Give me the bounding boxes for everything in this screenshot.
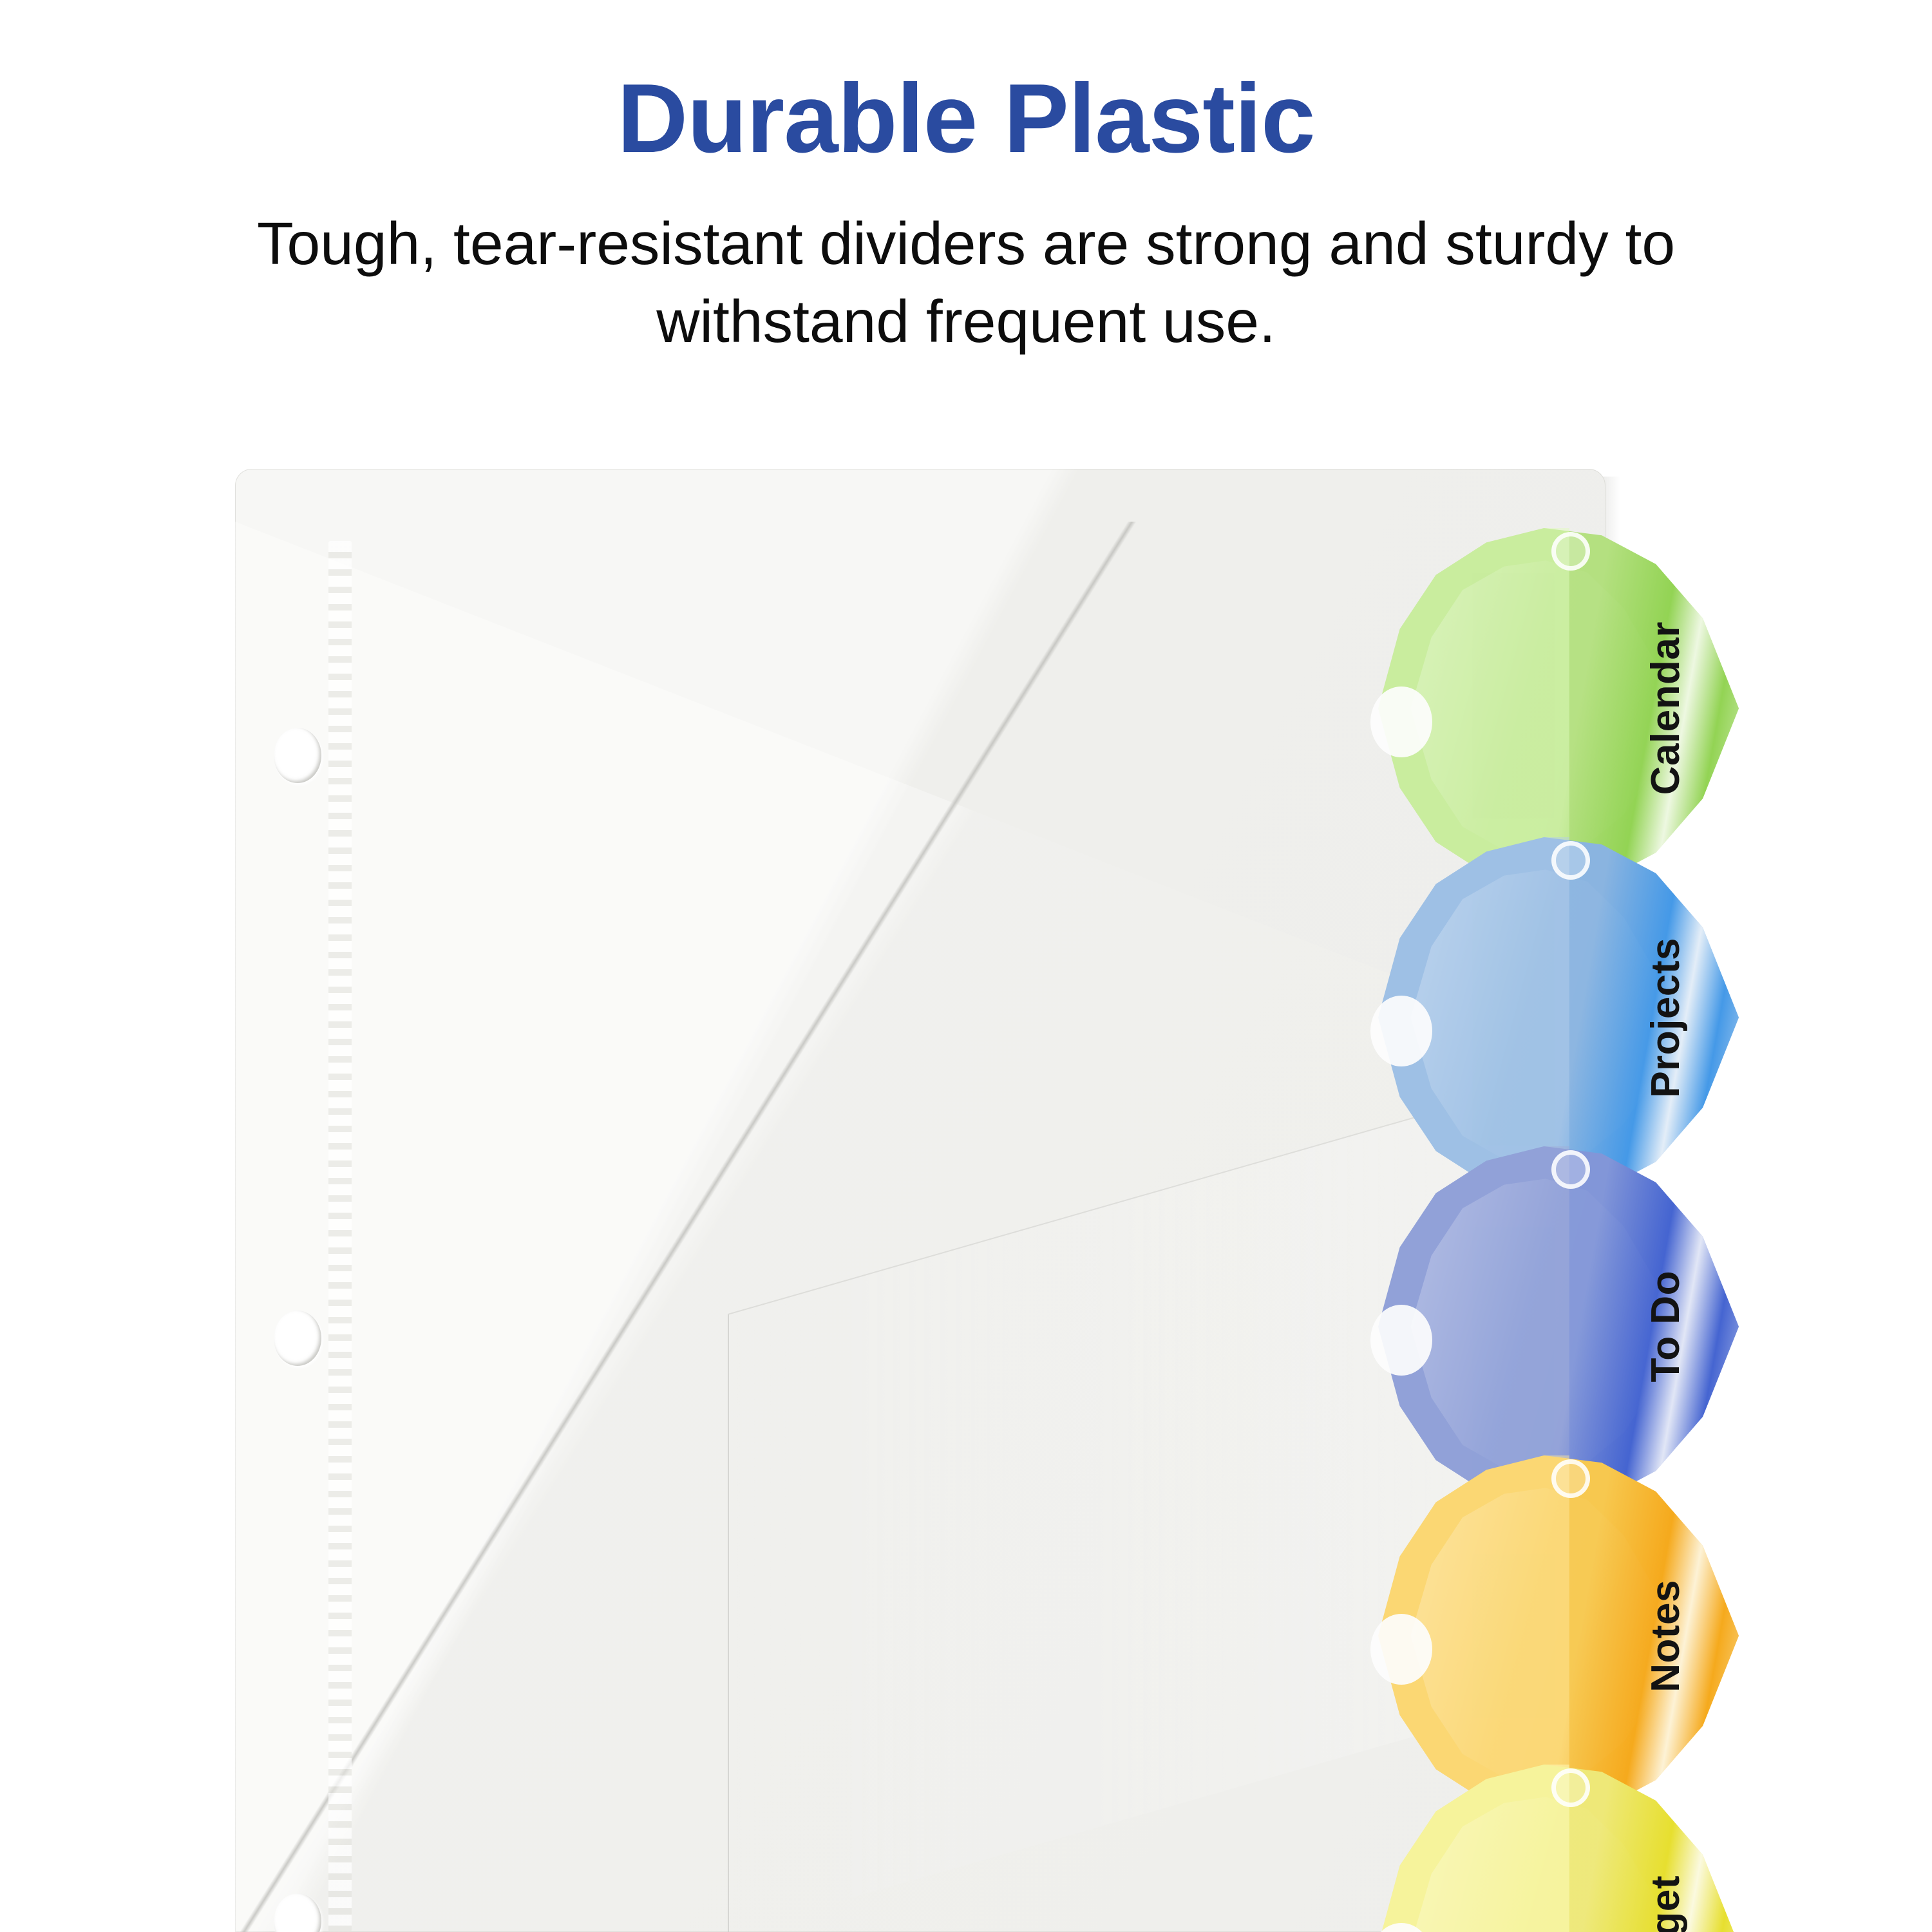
punch-hole-middle <box>274 1311 321 1366</box>
page-title: Durable Plastic <box>0 0 1932 167</box>
punch-hole-top <box>274 728 321 783</box>
tab-eyelet-top <box>1551 841 1590 880</box>
divider-tab-todo[interactable]: To Do <box>1378 1146 1739 1507</box>
product-photo: Calendar Projects To Do <box>0 451 1932 1932</box>
subtitle-text: Tough, tear-resistant dividers are stron… <box>142 167 1790 361</box>
tab-stack: Calendar Projects To Do <box>1378 451 1932 1932</box>
marketing-header: Durable Plastic Tough, tear-resistant di… <box>0 0 1932 361</box>
tab-thumb-notch <box>1370 687 1432 757</box>
divider-tab-notes[interactable]: Notes <box>1378 1455 1739 1816</box>
tab-thumb-notch <box>1370 1614 1432 1685</box>
tab-eyelet-top <box>1551 1768 1590 1807</box>
divider-tab-projects[interactable]: Projects <box>1378 837 1739 1198</box>
tab-thumb-notch <box>1370 1305 1432 1376</box>
tab-thumb-notch <box>1370 996 1432 1066</box>
reinforcement-strip <box>328 541 352 1932</box>
divider-tab-budget[interactable]: Budget <box>1378 1765 1739 1932</box>
tab-eyelet-top <box>1551 1150 1590 1189</box>
tab-eyelet-top <box>1551 532 1590 571</box>
tab-eyelet-top <box>1551 1459 1590 1498</box>
divider-tab-calendar[interactable]: Calendar <box>1378 528 1739 889</box>
